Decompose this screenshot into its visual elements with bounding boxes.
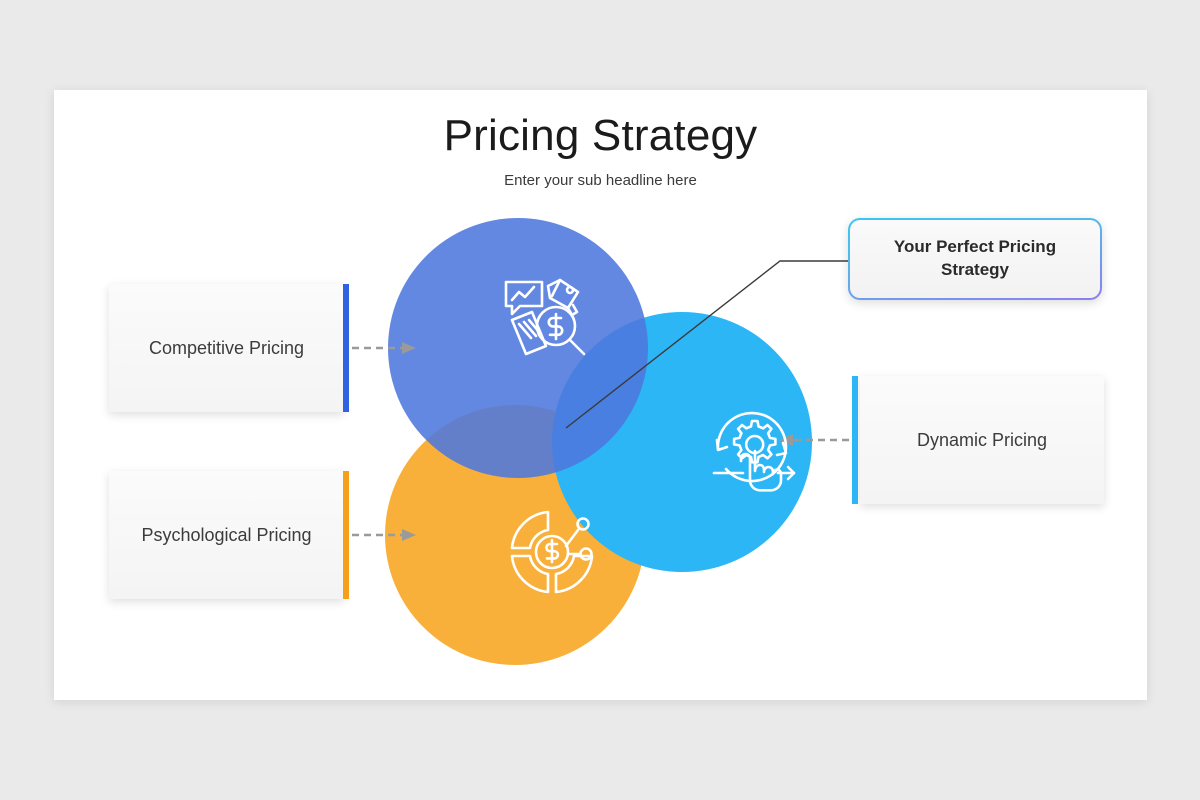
card-psychological-pricing[interactable]: Psychological Pricing: [109, 471, 344, 599]
slide-canvas: Pricing Strategy Enter your sub headline…: [54, 90, 1147, 700]
callout-inner: Your Perfect Pricing Strategy: [850, 220, 1100, 298]
callout-label: Your Perfect Pricing Strategy: [850, 236, 1100, 282]
venn-circle-competitive[interactable]: [388, 218, 648, 478]
card-dynamic-pricing[interactable]: Dynamic Pricing: [860, 376, 1104, 504]
card-psychological-label: Psychological Pricing: [109, 525, 344, 546]
card-competitive-pricing[interactable]: Competitive Pricing: [109, 284, 344, 412]
card-dynamic-accent-bar: [852, 376, 858, 504]
card-competitive-label: Competitive Pricing: [109, 338, 344, 359]
callout-perfect-pricing-strategy[interactable]: Your Perfect Pricing Strategy: [848, 218, 1102, 300]
card-psychological-accent-bar: [343, 471, 349, 599]
card-competitive-accent-bar: [343, 284, 349, 412]
card-dynamic-label: Dynamic Pricing: [860, 430, 1104, 451]
